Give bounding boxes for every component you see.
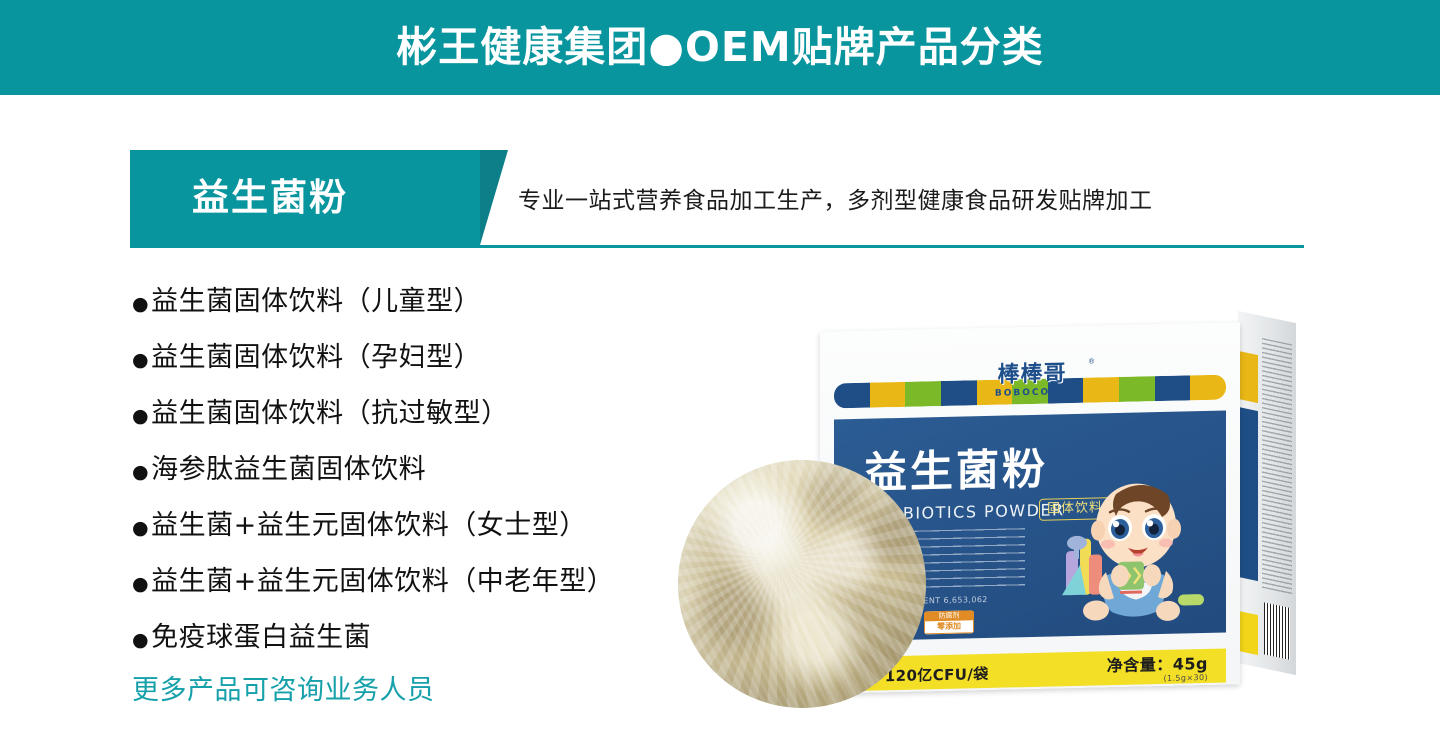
net-weight-value: 45g: [1173, 654, 1208, 674]
list-item-label: 海参肽益生菌固体饮料: [151, 456, 426, 483]
page-header: 彬王健康集团●OEM贴牌产品分类: [0, 0, 1440, 95]
powder-texture-overlay: [678, 460, 926, 708]
barcode-icon: [1264, 602, 1290, 660]
list-item-label: 益生菌+益生元固体饮料（女士型）: [151, 512, 587, 539]
stripe-segment: [870, 382, 906, 408]
brand-logo: 棒棒哥 BOBOCONG ®: [972, 356, 1092, 407]
package-net-weight: 净含量：45g (1.5g×30): [1107, 655, 1208, 684]
brand-name-cn: 棒棒哥: [997, 363, 1066, 387]
bullet-icon: ●: [132, 351, 149, 370]
product-image-composite: 棒棒哥 BOBOCONG ® 益生菌粉 PROBIOTICS POWDER 固体…: [660, 300, 1340, 720]
net-weight-label: 净含量：: [1107, 655, 1173, 675]
stripe-segment: [1119, 376, 1155, 402]
brand-name-en: BOBOCONG: [995, 387, 1069, 399]
page-title: 彬王健康集团●OEM贴牌产品分类: [396, 27, 1043, 68]
side-stripe-yellow-top: [1238, 351, 1258, 403]
list-item-label: 益生菌+益生元固体饮料（中老年型）: [151, 568, 614, 595]
bullet-icon: ●: [132, 631, 149, 650]
powder-photo-circle: [678, 460, 926, 708]
package-side-panel: [1238, 311, 1296, 675]
stripe-segment: [1155, 375, 1191, 401]
bullet-icon: ●: [132, 407, 149, 426]
stripe-segment: [1190, 375, 1226, 401]
product-category-page: 彬王健康集团●OEM贴牌产品分类 益生菌粉 专业一站式营养食品加工生产，多剂型健…: [0, 0, 1440, 732]
package-product-name: 益生菌粉: [864, 449, 1048, 496]
list-item-label: 免疫球蛋白益生菌: [151, 624, 371, 651]
side-stripe-yellow-bottom: [1238, 611, 1258, 655]
registered-mark-icon: ®: [1088, 358, 1095, 366]
banner-divider: [130, 245, 1304, 248]
ingredient-text-block: [1262, 338, 1292, 594]
badge-bottom-label: 零添加: [924, 620, 974, 634]
side-stripe-blue: [1238, 407, 1258, 581]
bullet-icon: ●: [132, 519, 149, 538]
list-item-label: 益生菌固体饮料（孕妇型）: [151, 344, 481, 371]
bullet-icon: ●: [132, 295, 149, 314]
banner-arrow-shape: [480, 150, 508, 245]
list-item-label: 益生菌固体饮料（抗过敏型）: [151, 400, 509, 427]
badge-no-preservative: 防腐剂 零添加: [924, 610, 974, 634]
section-tagline: 专业一站式营养食品加工生产，多剂型健康食品研发贴牌加工: [518, 150, 1153, 245]
section-banner: 益生菌粉 专业一站式营养食品加工生产，多剂型健康食品研发贴牌加工: [130, 150, 1304, 248]
stripe-segment: [905, 381, 941, 407]
bullet-icon: ●: [132, 463, 149, 482]
list-item-label: 益生菌固体饮料（儿童型）: [151, 288, 481, 315]
contact-footnote: 更多产品可咨询业务人员: [132, 668, 435, 707]
baby-illustration-icon: [1060, 466, 1210, 634]
section-title: 益生菌粉: [130, 150, 480, 245]
bullet-icon: ●: [132, 575, 149, 594]
stripe-segment: [834, 383, 870, 409]
